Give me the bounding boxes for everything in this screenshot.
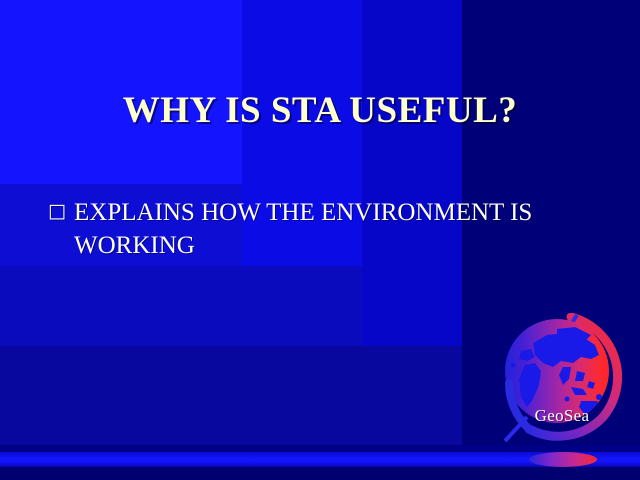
geosea-logo: GeoSea xyxy=(499,313,625,443)
slide-canvas: WHY IS STA USEFUL? □ EXPLAINS HOW THE EN… xyxy=(0,0,640,480)
bottom-bar-upper-shade xyxy=(0,445,640,452)
bottom-bar-lower-shade xyxy=(0,467,640,480)
background-step-3 xyxy=(362,0,462,346)
geosea-globe-icon xyxy=(499,313,625,443)
bullet-item-text: EXPLAINS HOW THE ENVIRONMENT IS WORKING xyxy=(74,196,593,263)
bullet-item: □ EXPLAINS HOW THE ENVIRONMENT IS WORKIN… xyxy=(48,196,593,263)
slide-body: □ EXPLAINS HOW THE ENVIRONMENT IS WORKIN… xyxy=(48,196,593,263)
slide-title: WHY IS STA USEFUL? xyxy=(0,92,640,129)
square-bullet-icon: □ xyxy=(48,196,74,226)
globe-reflection xyxy=(529,452,597,467)
